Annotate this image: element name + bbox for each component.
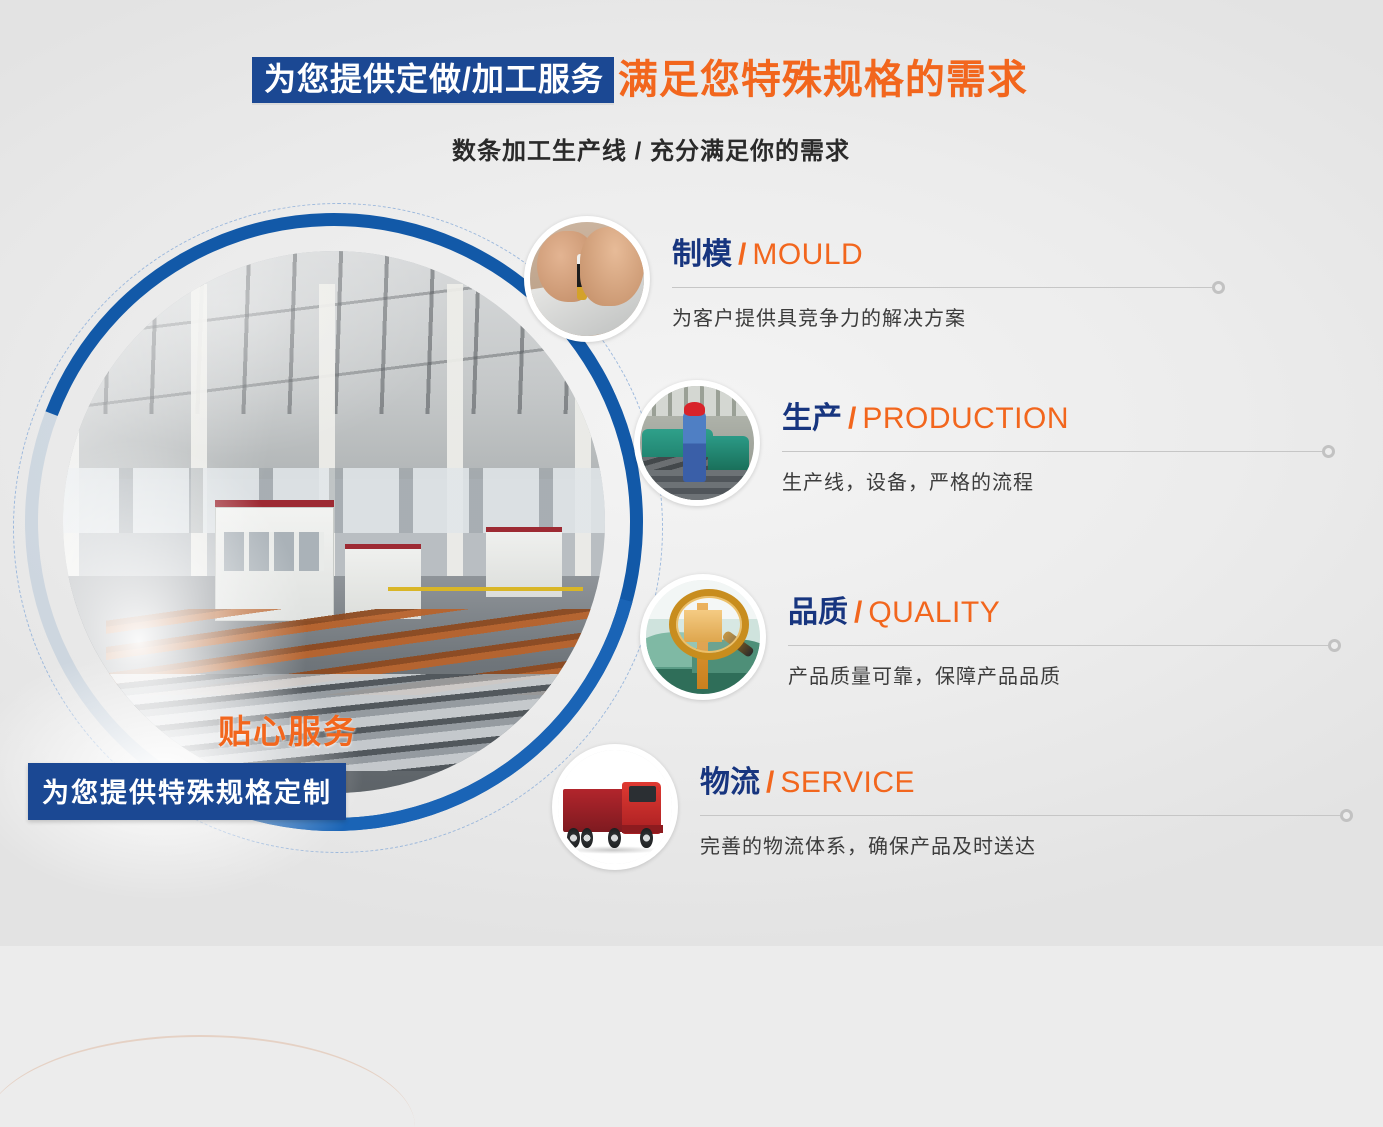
truck-icon [552,744,678,870]
headline-row: 为您提供定做/加工服务 满足您特殊规格的需求 [252,57,1028,103]
feature-divider-line [672,287,1212,288]
hand-drawing-pen-icon [524,216,650,342]
feature-title: 物流/SERVICE [700,766,1340,799]
feature-body: 制模/MOULD 为客户提供具竞争力的解决方案 [672,216,1212,331]
feature-description: 产品质量可靠，保障产品品质 [788,660,1328,689]
page-header: 为您提供定做/加工服务 满足您特殊规格的需求 数条加工生产线 / 充分满足你的需… [0,0,1383,190]
line-end-dot-icon [1340,809,1353,822]
feature-title-en: MOULD [752,238,863,271]
feature-title-cn: 品质 [788,596,848,629]
feature-body: 品质/QUALITY 产品质量可靠，保障产品品质 [788,574,1328,689]
feature-title: 品质/QUALITY [788,596,1328,629]
feature-item-mould[interactable]: 制模/MOULD 为客户提供具竞争力的解决方案 [524,216,1212,342]
caption-headline: 贴心服务 [148,705,428,753]
line-end-dot-icon [1322,445,1335,458]
service-caption-block: 贴心服务 为您提供特殊规格定制 [28,705,428,820]
feature-title: 制模/MOULD [672,238,1212,271]
feature-title-separator: / [848,402,856,435]
feature-body: 生产/PRODUCTION 生产线，设备，严格的流程 [782,380,1322,495]
feature-title-separator: / [854,596,862,629]
feature-description: 完善的物流体系，确保产品及时送达 [700,830,1340,859]
feature-divider-line [782,451,1322,452]
magnifier-icon [640,574,766,700]
feature-title-cn: 生产 [782,402,842,435]
feature-item-production[interactable]: 生产/PRODUCTION 生产线，设备，严格的流程 [634,380,1322,506]
feature-body: 物流/SERVICE 完善的物流体系，确保产品及时送达 [700,744,1340,859]
header-subtitle: 数条加工生产线 / 充分满足你的需求 [452,131,850,166]
feature-item-quality[interactable]: 品质/QUALITY 产品质量可靠，保障产品品质 [640,574,1328,700]
line-end-dot-icon [1212,281,1225,294]
line-end-dot-icon [1328,639,1341,652]
feature-title-en: QUALITY [868,596,1000,629]
feature-title-en: PRODUCTION [862,402,1069,435]
decorative-swoosh [0,1035,415,1127]
feature-title-en: SERVICE [780,766,915,799]
factory-worker-icon [634,380,760,506]
feature-title: 生产/PRODUCTION [782,402,1322,435]
caption-badge: 为您提供特殊规格定制 [28,763,346,820]
feature-divider-line [700,815,1340,816]
header-badge: 为您提供定做/加工服务 [252,57,614,103]
feature-description: 生产线，设备，严格的流程 [782,466,1322,495]
feature-divider-line [788,645,1328,646]
feature-title-cn: 制模 [672,238,732,271]
feature-title-separator: / [738,238,746,271]
feature-title-separator: / [766,766,774,799]
feature-description: 为客户提供具竞争力的解决方案 [672,302,1212,331]
feature-title-cn: 物流 [700,766,760,799]
feature-item-service[interactable]: 物流/SERVICE 完善的物流体系，确保产品及时送达 [552,744,1340,870]
page-root: 为您提供定做/加工服务 满足您特殊规格的需求 数条加工生产线 / 充分满足你的需… [0,0,1383,946]
page-title: 满足您特殊规格的需求 [614,57,1028,103]
